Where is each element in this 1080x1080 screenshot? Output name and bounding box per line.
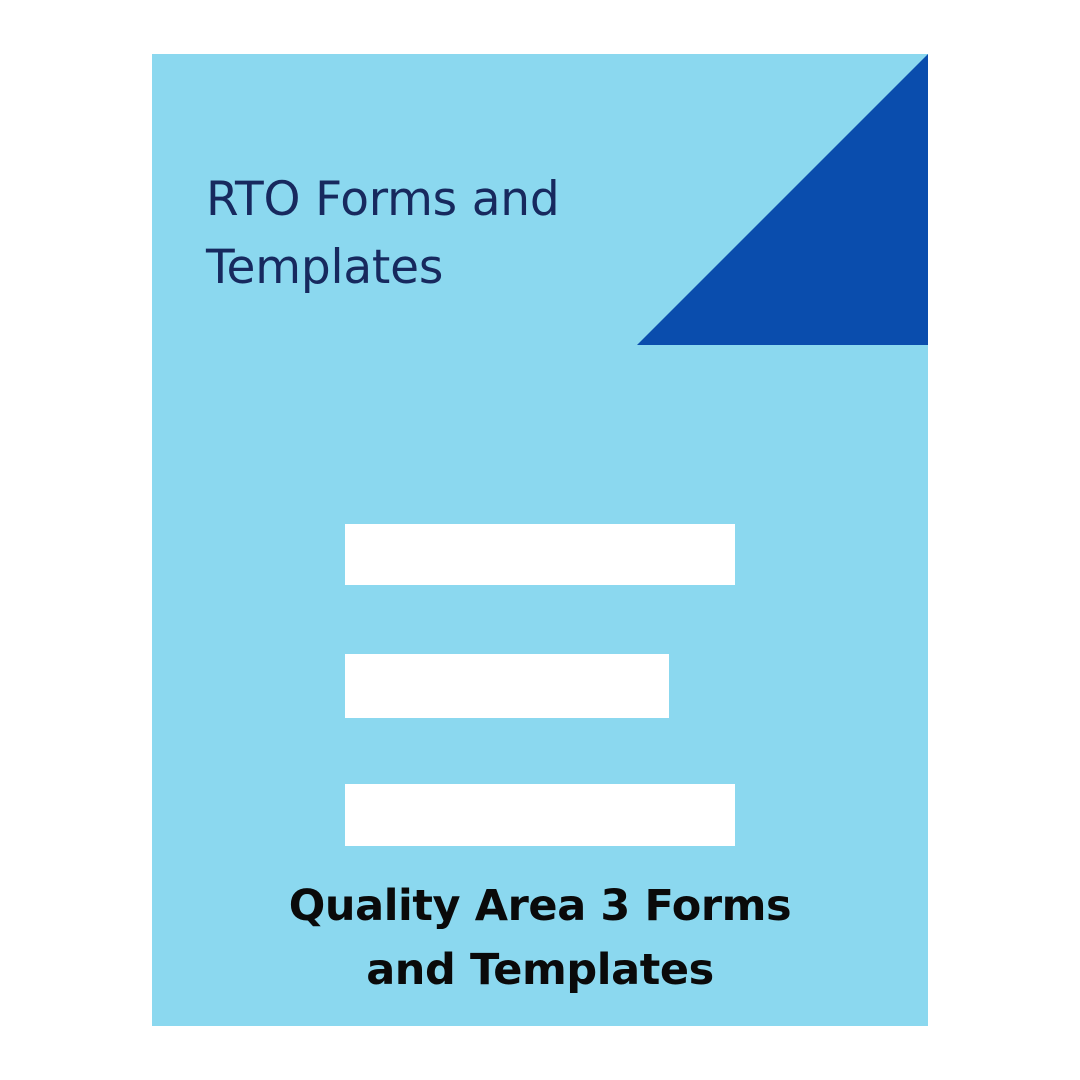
- content-line-3: [345, 784, 735, 846]
- document-card[interactable]: RTO Forms and Templates Quality Area 3 F…: [152, 54, 928, 1026]
- content-line-1: [345, 524, 735, 585]
- document-title: Quality Area 3 Forms and Templates: [180, 874, 900, 1002]
- content-line-2: [345, 654, 669, 718]
- document-heading: RTO Forms and Templates: [206, 166, 636, 302]
- page-canvas: RTO Forms and Templates Quality Area 3 F…: [0, 0, 1080, 1080]
- document-title-line-1: Quality Area 3 Forms: [180, 874, 900, 938]
- document-title-line-2: and Templates: [180, 938, 900, 1002]
- folded-page-corner-icon: [637, 54, 928, 345]
